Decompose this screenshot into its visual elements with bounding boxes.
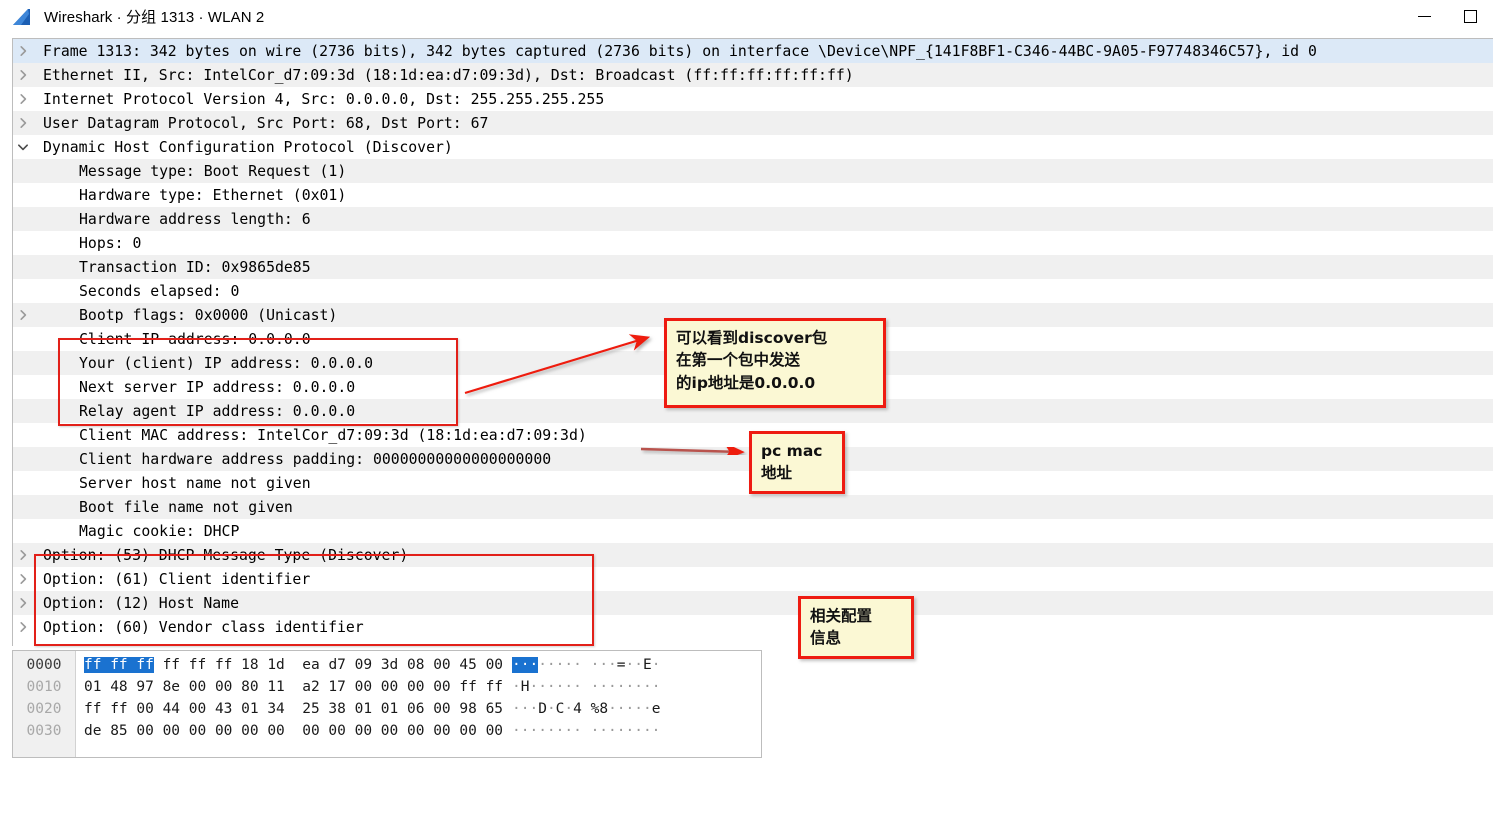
packet-detail-row[interactable]: Boot file name not given: [13, 495, 1493, 519]
packet-detail-row[interactable]: Internet Protocol Version 4, Src: 0.0.0.…: [13, 87, 1493, 111]
hex-byte-row[interactable]: ff ff 00 44 00 43 01 34 25 38 01 01 06 0…: [84, 698, 506, 720]
wireshark-packet-detail-window: Wireshark · 分组 1313 · WLAN 2 Frame 1313:…: [0, 0, 1493, 828]
packet-detail-row[interactable]: Option: (53) DHCP Message Type (Discover…: [13, 543, 1493, 567]
ascii-byte-row[interactable]: ·H······ ········: [512, 676, 706, 698]
packet-detail-row-label: Hardware type: Ethernet (0x01): [33, 187, 346, 204]
ascii-byte-row[interactable]: ········ ········: [512, 720, 706, 742]
packet-detail-row[interactable]: Option: (60) Vendor class identifier: [13, 615, 1493, 639]
hex-byte-row[interactable]: 01 48 97 8e 00 00 80 11 a2 17 00 00 00 0…: [84, 676, 506, 698]
ascii-bytes-text: ········ ········: [512, 723, 660, 739]
hex-selected-bytes: ff ff ff: [84, 657, 154, 673]
packet-detail-row[interactable]: Hops: 0: [13, 231, 1493, 255]
packet-detail-row-label: Seconds elapsed: 0: [33, 283, 239, 300]
hex-bytes-text: de 85 00 00 00 00 00 00 00 00 00 00 00 0…: [84, 723, 503, 739]
packet-detail-row-label: Transaction ID: 0x9865de85: [33, 259, 311, 276]
packet-bytes-pane[interactable]: 0000001000200030 ff ff ff ff ff ff 18 1d…: [12, 650, 762, 758]
packet-detail-row[interactable]: Seconds elapsed: 0: [13, 279, 1493, 303]
packet-detail-row-label: Boot file name not given: [33, 499, 293, 516]
chevron-right-icon[interactable]: [13, 45, 33, 57]
window-controls: [1401, 0, 1493, 33]
packet-detail-row-label: Message type: Boot Request (1): [33, 163, 346, 180]
packet-detail-row-label: Client MAC address: IntelCor_d7:09:3d (1…: [33, 427, 587, 444]
minimize-icon: [1418, 16, 1431, 17]
byte-offset-label: 0020: [13, 698, 75, 720]
packet-detail-row[interactable]: Dynamic Host Configuration Protocol (Dis…: [13, 135, 1493, 159]
annotation-note-config-info: 相关配置 信息: [798, 596, 914, 659]
packet-detail-row-label: Next server IP address: 0.0.0.0: [33, 379, 355, 396]
chevron-right-icon[interactable]: [13, 549, 33, 561]
hex-bytes-text: ff ff ff 18 1d ea d7 09 3d 08 00 45 00: [154, 657, 503, 673]
chevron-right-icon[interactable]: [13, 93, 33, 105]
ascii-bytes-text: ···D·C·4 %8·····e: [512, 701, 660, 717]
packet-detail-row-label: Client hardware address padding: 0000000…: [33, 451, 551, 468]
packet-detail-row-label: Option: (53) DHCP Message Type (Discover…: [33, 547, 408, 564]
ascii-bytes-text: ····· ···=··E·: [538, 657, 660, 673]
packet-detail-row-label: Internet Protocol Version 4, Src: 0.0.0.…: [33, 91, 604, 108]
ascii-bytes-column[interactable]: ········ ···=··E··H······ ···········D·C…: [506, 651, 706, 757]
packet-detail-row-label: Magic cookie: DHCP: [33, 523, 239, 540]
ascii-bytes-text: ·H······ ········: [512, 679, 660, 695]
chevron-down-icon[interactable]: [13, 143, 33, 152]
annotation-note-pc-mac: pc mac 地址: [749, 431, 845, 494]
packet-detail-row-label: Hops: 0: [33, 235, 141, 252]
hex-bytes-column[interactable]: ff ff ff ff ff ff 18 1d ea d7 09 3d 08 0…: [76, 651, 506, 757]
hex-bytes-text: 01 48 97 8e 00 00 80 11 a2 17 00 00 00 0…: [84, 679, 503, 695]
packet-detail-row[interactable]: Ethernet II, Src: IntelCor_d7:09:3d (18:…: [13, 63, 1493, 87]
minimize-button[interactable]: [1401, 0, 1447, 33]
packet-detail-row[interactable]: User Datagram Protocol, Src Port: 68, Ds…: [13, 111, 1493, 135]
packet-detail-row-label: Client IP address: 0.0.0.0: [33, 331, 311, 348]
chevron-right-icon[interactable]: [13, 117, 33, 129]
packet-detail-row[interactable]: Message type: Boot Request (1): [13, 159, 1493, 183]
packet-detail-row[interactable]: Option: (61) Client identifier: [13, 567, 1493, 591]
ascii-selected-bytes: ···: [512, 657, 538, 673]
packet-detail-row-label: Option: (60) Vendor class identifier: [33, 619, 364, 636]
packet-detail-row[interactable]: Transaction ID: 0x9865de85: [13, 255, 1493, 279]
chevron-right-icon[interactable]: [13, 69, 33, 81]
packet-detail-row-label: Option: (61) Client identifier: [33, 571, 310, 588]
byte-offset-label: 0000: [13, 654, 75, 676]
ascii-byte-row[interactable]: ········ ···=··E·: [512, 654, 706, 676]
maximize-button[interactable]: [1447, 0, 1493, 33]
byte-offset-label: 0010: [13, 676, 75, 698]
hex-byte-row[interactable]: de 85 00 00 00 00 00 00 00 00 00 00 00 0…: [84, 720, 506, 742]
window-title: Wireshark · 分组 1313 · WLAN 2: [44, 6, 264, 27]
title-bar: Wireshark · 分组 1313 · WLAN 2: [0, 0, 1493, 33]
chevron-right-icon[interactable]: [13, 573, 33, 585]
chevron-right-icon[interactable]: [13, 597, 33, 609]
packet-detail-row[interactable]: Magic cookie: DHCP: [13, 519, 1493, 543]
packet-detail-row-label: Bootp flags: 0x0000 (Unicast): [33, 307, 337, 324]
packet-detail-row[interactable]: Option: (12) Host Name: [13, 591, 1493, 615]
hex-bytes-text: ff ff 00 44 00 43 01 34 25 38 01 01 06 0…: [84, 701, 503, 717]
packet-detail-row-label: Ethernet II, Src: IntelCor_d7:09:3d (18:…: [33, 67, 854, 84]
annotation-note-discover: 可以看到discover包 在第一个包中发送 的ip地址是0.0.0.0: [664, 318, 886, 408]
packet-detail-row-label: Dynamic Host Configuration Protocol (Dis…: [33, 139, 453, 156]
chevron-right-icon[interactable]: [13, 309, 33, 321]
packet-detail-row-label: Option: (12) Host Name: [33, 595, 239, 612]
packet-detail-row-label: User Datagram Protocol, Src Port: 68, Ds…: [33, 115, 488, 132]
packet-detail-row-label: Relay agent IP address: 0.0.0.0: [33, 403, 355, 420]
byte-offset-label: 0030: [13, 720, 75, 742]
hex-byte-row[interactable]: ff ff ff ff ff ff 18 1d ea d7 09 3d 08 0…: [84, 654, 506, 676]
packet-detail-row-label: Your (client) IP address: 0.0.0.0: [33, 355, 373, 372]
packet-detail-row-label: Frame 1313: 342 bytes on wire (2736 bits…: [33, 43, 1317, 60]
packet-detail-row[interactable]: Frame 1313: 342 bytes on wire (2736 bits…: [13, 39, 1493, 63]
wireshark-fin-icon: [12, 7, 34, 27]
maximize-icon: [1464, 10, 1477, 23]
chevron-right-icon[interactable]: [13, 621, 33, 633]
dialog-button-bar: Close Help: [0, 776, 1493, 828]
packet-detail-row[interactable]: Hardware address length: 6: [13, 207, 1493, 231]
byte-offset-column: 0000001000200030: [13, 651, 76, 757]
packet-detail-row-label: Server host name not given: [33, 475, 311, 492]
packet-detail-row-label: Hardware address length: 6: [33, 211, 311, 228]
ascii-byte-row[interactable]: ···D·C·4 %8·····e: [512, 698, 706, 720]
packet-detail-row[interactable]: Hardware type: Ethernet (0x01): [13, 183, 1493, 207]
